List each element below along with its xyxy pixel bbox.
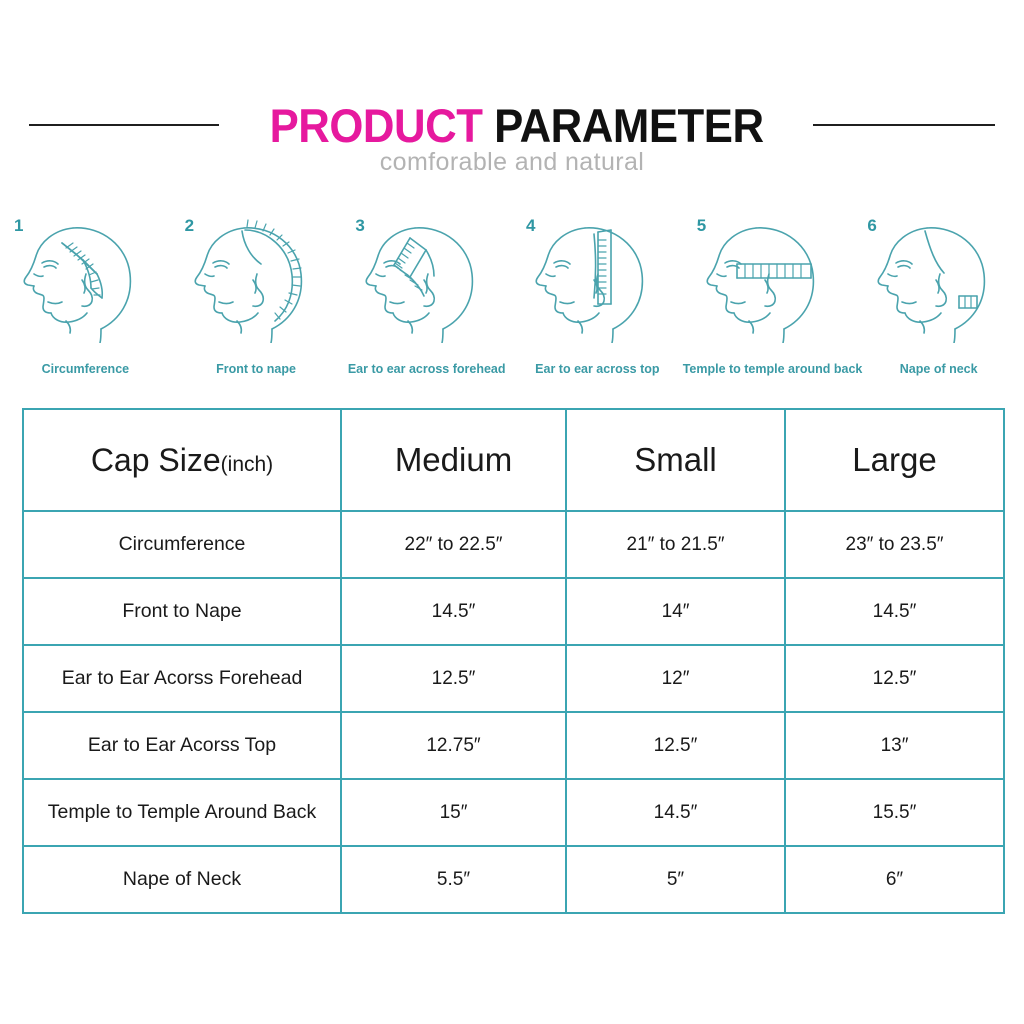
diagram-number: 1 bbox=[14, 216, 23, 236]
title-rule-right bbox=[813, 124, 995, 126]
row-label: Ear to Ear Acorss Forehead bbox=[23, 645, 341, 712]
table-header-row: Cap Size(inch) Medium Small Large bbox=[23, 409, 1004, 511]
table-row: Ear to Ear Acorss Forehead 12.5″ 12″ 12.… bbox=[23, 645, 1004, 712]
head-profile-circumference-icon bbox=[10, 218, 160, 343]
cap-size-table: Cap Size(inch) Medium Small Large Circum… bbox=[22, 408, 1005, 914]
row-label: Ear to Ear Acorss Top bbox=[23, 712, 341, 779]
header-cap-size: Cap Size(inch) bbox=[23, 409, 341, 511]
cell-small: 5″ bbox=[566, 846, 785, 913]
cell-large: 14.5″ bbox=[785, 578, 1004, 645]
cell-medium: 14.5″ bbox=[341, 578, 566, 645]
header-medium: Medium bbox=[341, 409, 566, 511]
page-title: PRODUCT PARAMETER bbox=[270, 102, 764, 149]
diagram-item-temple-to-temple: 5 Temple to temple around back bbox=[683, 212, 854, 380]
diagram-item-circumference: 1 C bbox=[0, 212, 171, 380]
row-label: Temple to Temple Around Back bbox=[23, 779, 341, 846]
table-row: Temple to Temple Around Back 15″ 14.5″ 1… bbox=[23, 779, 1004, 846]
diagram-label: Nape of neck bbox=[853, 362, 1024, 376]
table-row: Circumference 22″ to 22.5″ 21″ to 21.5″ … bbox=[23, 511, 1004, 578]
diagram-label: Ear to ear across top bbox=[512, 362, 683, 376]
head-profile-ear-to-ear-top-icon bbox=[522, 218, 672, 343]
head-profile-temple-to-temple-icon bbox=[693, 218, 843, 343]
diagram-item-ear-to-ear-forehead: 3 Ear to ear across bbox=[341, 212, 512, 380]
row-label: Circumference bbox=[23, 511, 341, 578]
title-rule-left bbox=[29, 124, 219, 126]
diagram-number: 6 bbox=[867, 216, 876, 236]
measurement-diagram-strip: 1 C bbox=[0, 212, 1024, 380]
cell-medium: 12.5″ bbox=[341, 645, 566, 712]
diagram-label: Temple to temple around back bbox=[683, 362, 854, 376]
header-cap-size-main: Cap Size bbox=[91, 442, 221, 478]
cell-large: 23″ to 23.5″ bbox=[785, 511, 1004, 578]
row-label: Front to Nape bbox=[23, 578, 341, 645]
table-body: Circumference 22″ to 22.5″ 21″ to 21.5″ … bbox=[23, 511, 1004, 913]
cell-medium: 22″ to 22.5″ bbox=[341, 511, 566, 578]
head-profile-nape-of-neck-icon bbox=[864, 218, 1014, 343]
table-row: Nape of Neck 5.5″ 5″ 6″ bbox=[23, 846, 1004, 913]
page-title-emphasis: PRODUCT bbox=[270, 99, 495, 152]
header-large: Large bbox=[785, 409, 1004, 511]
diagram-item-front-to-nape: 2 Front to nape bbox=[171, 212, 342, 380]
diagram-label: Ear to ear across forehead bbox=[341, 362, 512, 376]
head-profile-ear-to-ear-forehead-icon bbox=[352, 218, 502, 343]
cell-large: 6″ bbox=[785, 846, 1004, 913]
diagram-number: 3 bbox=[355, 216, 364, 236]
cell-medium: 5.5″ bbox=[341, 846, 566, 913]
page-title-rest: PARAMETER bbox=[495, 99, 764, 152]
diagram-item-nape-of-neck: 6 Nape of neck bbox=[853, 212, 1024, 380]
head-profile-front-to-nape-icon bbox=[181, 218, 331, 343]
cap-size-table-wrapper: Cap Size(inch) Medium Small Large Circum… bbox=[22, 408, 1003, 900]
cell-small: 21″ to 21.5″ bbox=[566, 511, 785, 578]
diagram-label: Front to nape bbox=[171, 362, 342, 376]
header-cap-size-unit: (inch) bbox=[221, 453, 274, 476]
table-row: Front to Nape 14.5″ 14″ 14.5″ bbox=[23, 578, 1004, 645]
diagram-number: 5 bbox=[697, 216, 706, 236]
cell-small: 12″ bbox=[566, 645, 785, 712]
diagram-item-ear-to-ear-top: 4 Ear to ear acro bbox=[512, 212, 683, 380]
cell-medium: 15″ bbox=[341, 779, 566, 846]
cell-small: 14″ bbox=[566, 578, 785, 645]
header-small: Small bbox=[566, 409, 785, 511]
cell-large: 12.5″ bbox=[785, 645, 1004, 712]
diagram-number: 4 bbox=[526, 216, 535, 236]
cell-large: 15.5″ bbox=[785, 779, 1004, 846]
row-label: Nape of Neck bbox=[23, 846, 341, 913]
cell-small: 12.5″ bbox=[566, 712, 785, 779]
cell-medium: 12.75″ bbox=[341, 712, 566, 779]
table-row: Ear to Ear Acorss Top 12.75″ 12.5″ 13″ bbox=[23, 712, 1004, 779]
title-row: PRODUCT PARAMETER bbox=[0, 96, 1024, 154]
table-head: Cap Size(inch) Medium Small Large bbox=[23, 409, 1004, 511]
cell-small: 14.5″ bbox=[566, 779, 785, 846]
page-header: PRODUCT PARAMETER comforable and natural bbox=[0, 96, 1024, 196]
diagram-number: 2 bbox=[185, 216, 194, 236]
diagram-label: Circumference bbox=[0, 362, 171, 376]
page-subtitle: comforable and natural bbox=[0, 148, 1024, 177]
cell-large: 13″ bbox=[785, 712, 1004, 779]
